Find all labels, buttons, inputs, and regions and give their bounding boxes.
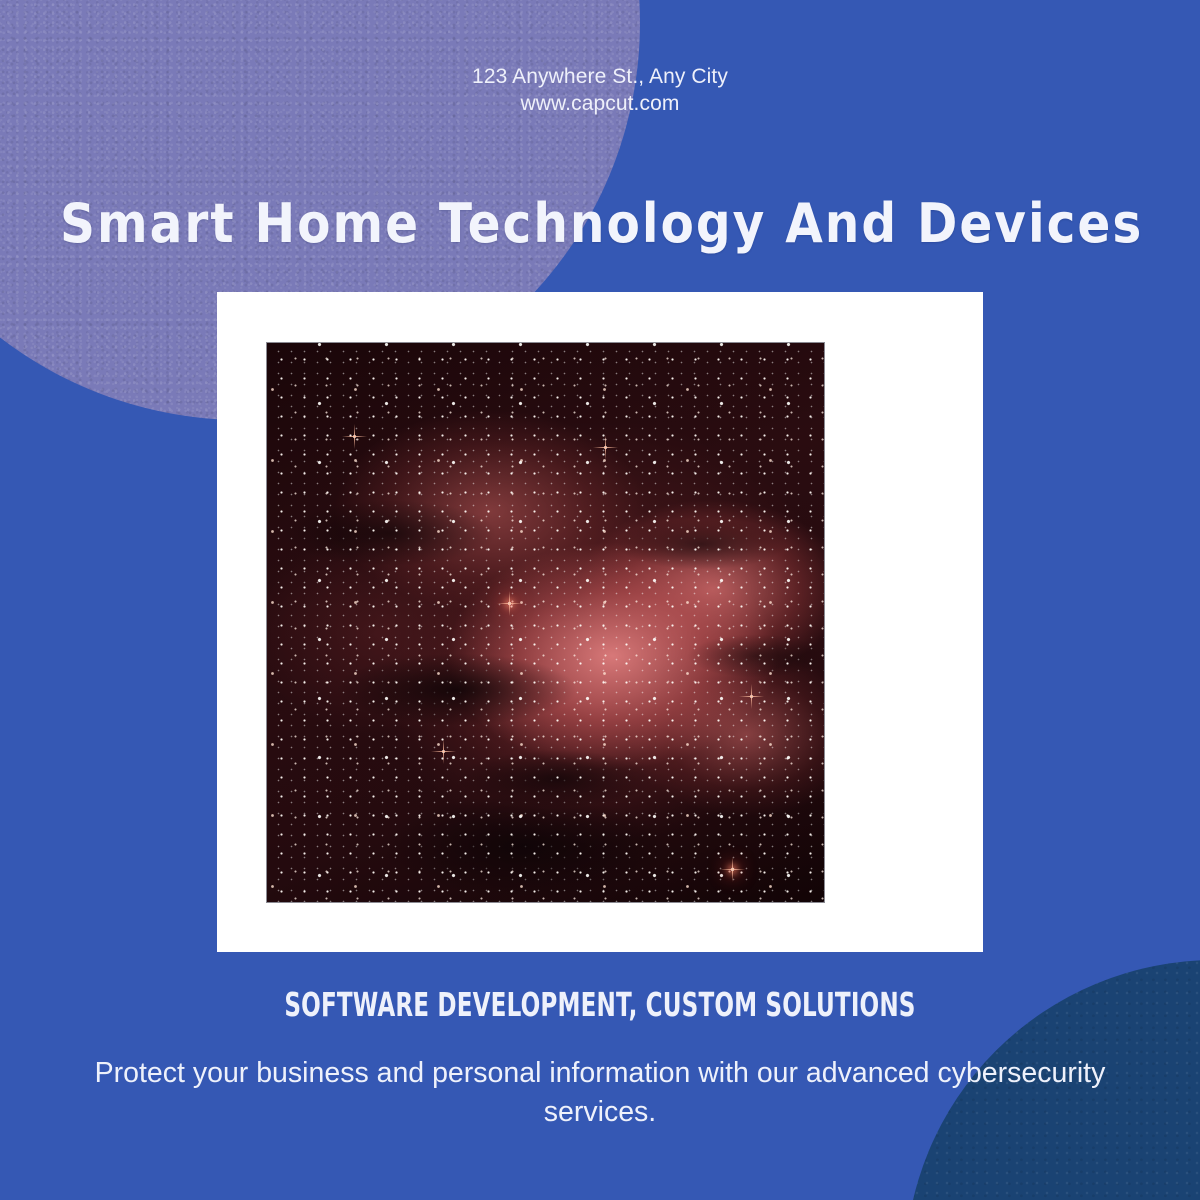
bright-star-center	[508, 602, 511, 605]
star-field-bright	[267, 343, 824, 902]
poster-canvas: 123 Anywhere St., Any City www.capcut.co…	[0, 0, 1200, 1200]
bright-star-left-low	[442, 750, 445, 753]
contact-block: 123 Anywhere St., Any City www.capcut.co…	[0, 64, 1200, 118]
website-text: www.capcut.com	[0, 91, 1200, 118]
body-paragraph: Protect your business and personal infor…	[88, 1054, 1112, 1133]
photo-frame	[217, 292, 983, 952]
nebula-photo	[266, 342, 825, 903]
page-title: Smart Home Technology And Devices	[60, 192, 1140, 255]
bright-star-top	[604, 446, 607, 449]
section-subtitle: SOFTWARE DEVELOPMENT, CUSTOM SOLUTIONS	[180, 985, 1020, 1024]
bright-star-lower-right	[731, 868, 734, 871]
address-text: 123 Anywhere St., Any City	[0, 64, 1200, 91]
bright-star-upper-left	[353, 435, 356, 438]
bright-star-right	[750, 695, 753, 698]
